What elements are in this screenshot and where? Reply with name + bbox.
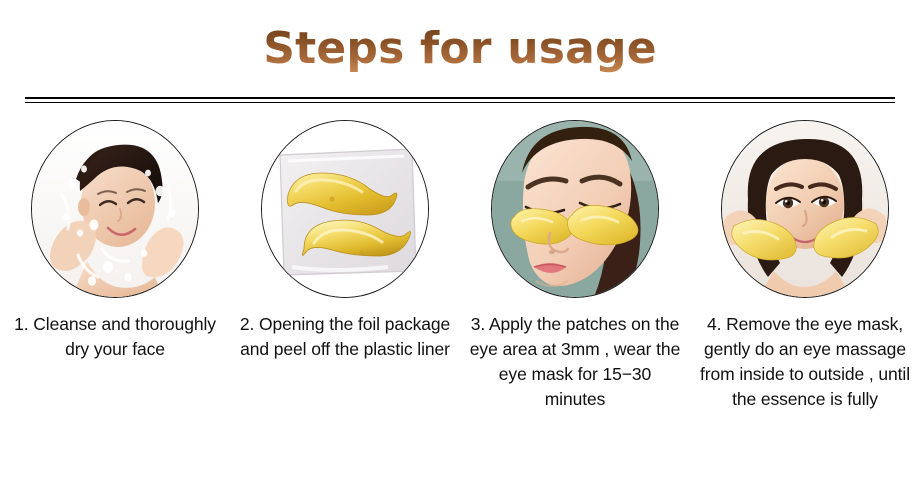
step-4: 4. Remove the eye mask, gently do an eye… bbox=[693, 120, 918, 412]
divider-rule-top bbox=[25, 97, 895, 99]
header-divider bbox=[25, 97, 895, 103]
woman-removing-eye-patches-icon bbox=[722, 121, 888, 297]
divider-rule-bottom bbox=[25, 102, 895, 103]
gold-eye-patches-icon bbox=[262, 121, 428, 297]
woman-cleansing-face-icon bbox=[32, 121, 198, 297]
step-1: 1. Cleanse and thoroughly dry your face bbox=[3, 120, 228, 362]
step-1-caption: 1. Cleanse and thoroughly dry your face bbox=[8, 312, 223, 362]
step-4-caption: 4. Remove the eye mask, gently do an eye… bbox=[698, 312, 913, 412]
step-2-caption: 2. Opening the foil package and peel off… bbox=[238, 312, 453, 362]
step-2: 2. Opening the foil package and peel off… bbox=[233, 120, 458, 362]
step-3-caption: 3. Apply the patches on the eye area at … bbox=[468, 312, 683, 412]
page-title: Steps for usage bbox=[263, 23, 657, 74]
step-1-image bbox=[31, 120, 199, 298]
woman-wearing-eye-patches-icon bbox=[492, 121, 658, 297]
step-3: 3. Apply the patches on the eye area at … bbox=[463, 120, 688, 412]
step-4-image bbox=[721, 120, 889, 298]
page-header: Steps for usage bbox=[0, 0, 920, 92]
steps-row: 1. Cleanse and thoroughly dry your face bbox=[0, 120, 920, 412]
step-3-image bbox=[491, 120, 659, 298]
step-2-image bbox=[261, 120, 429, 298]
